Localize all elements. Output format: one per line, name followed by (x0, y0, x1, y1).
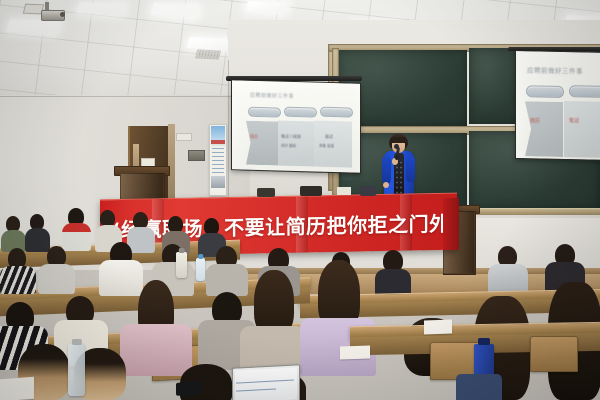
ceiling-wall-edge (0, 96, 232, 97)
audience-torso (38, 264, 75, 294)
ceiling-panel-light (246, 1, 288, 13)
bottle-cap (478, 338, 490, 345)
water-bottle (196, 258, 205, 281)
projector-lens (60, 12, 65, 17)
presenter-fringe (390, 137, 407, 143)
presenter-hand-lower (383, 182, 389, 188)
right-slide-column (564, 101, 600, 158)
clear-water-bottle (68, 344, 85, 396)
left-slide-col2-label: 笔试 / 网测 (281, 134, 301, 141)
bag (456, 374, 502, 400)
thermos-cup (176, 252, 187, 278)
left-slide-chevron (246, 121, 278, 166)
presenter-top-pattern (395, 160, 403, 194)
ceiling-panel-light (187, 37, 232, 50)
left-slide-col2-sub: 测评 题库 (281, 144, 296, 149)
ceiling-air-vent (195, 49, 221, 59)
right-slide-title: 应聘前做好三件事 (527, 64, 583, 75)
left-slide-col3-sub: 准备 复盘 (319, 144, 334, 149)
audience-torso-white-jacket (99, 260, 143, 296)
left-slide-pill (284, 107, 317, 118)
poster-footer-image (211, 176, 225, 188)
cup-lid (178, 248, 185, 253)
poster-text-lines (212, 148, 224, 174)
left-slide-title: 应聘前做好三件事 (250, 92, 294, 100)
presenter (381, 134, 417, 202)
right-slide-pill (526, 85, 564, 98)
right-slide-col2-label: 笔试 (569, 117, 579, 124)
left-slide-col1-label: 简历 (250, 134, 258, 140)
tablet-screen (235, 367, 297, 400)
seated-audience (0, 196, 600, 400)
audience-torso (25, 228, 50, 252)
microphone-head (394, 144, 399, 149)
notebook-page (0, 377, 34, 400)
seat-back (530, 336, 578, 372)
audience-torso-pink-jacket (120, 324, 192, 376)
left-slide-col3-label: 面试 (325, 134, 333, 140)
ceiling-panel-light (151, 3, 200, 17)
bottle-cap (71, 339, 81, 345)
lecture-hall-photo: 应聘前做好三件事 简历 笔试 / 网测 测评 题库 面试 准备 复盘 应聘前做好… (0, 0, 600, 400)
left-projection-screen: 应聘前做好三件事 简历 笔试 / 网测 测评 题库 面试 准备 复盘 (231, 79, 361, 174)
right-slide-chevron (525, 101, 563, 157)
left-slide-pill (248, 107, 281, 118)
ceiling-panel-light (76, 2, 125, 15)
notebook-page (424, 320, 452, 335)
table-item-dark (360, 186, 376, 196)
audience-torso-striped (0, 266, 36, 294)
wall-sign (188, 150, 205, 161)
wall-poster (209, 124, 227, 196)
right-slide-col1-label: 简历 (530, 117, 540, 124)
wall-plate (176, 133, 192, 141)
left-slide-pill (320, 107, 353, 118)
table-item-dark (300, 186, 322, 196)
presenter-right-arm (406, 156, 415, 182)
poster-banner-strip (211, 140, 225, 144)
phone[interactable] (176, 381, 202, 396)
bottle-cap (198, 254, 203, 259)
tablet-device[interactable] (232, 364, 300, 400)
presenter-left-arm (382, 156, 391, 184)
audience-torso-red-scarf (62, 223, 91, 251)
ceiling-panel-light (6, 19, 60, 34)
notebook-page (340, 345, 370, 359)
table-item-paper (337, 187, 351, 195)
right-projection-screen: 应聘前做好三件事 简历 笔试 (515, 50, 600, 161)
right-slide-pill (569, 85, 600, 98)
